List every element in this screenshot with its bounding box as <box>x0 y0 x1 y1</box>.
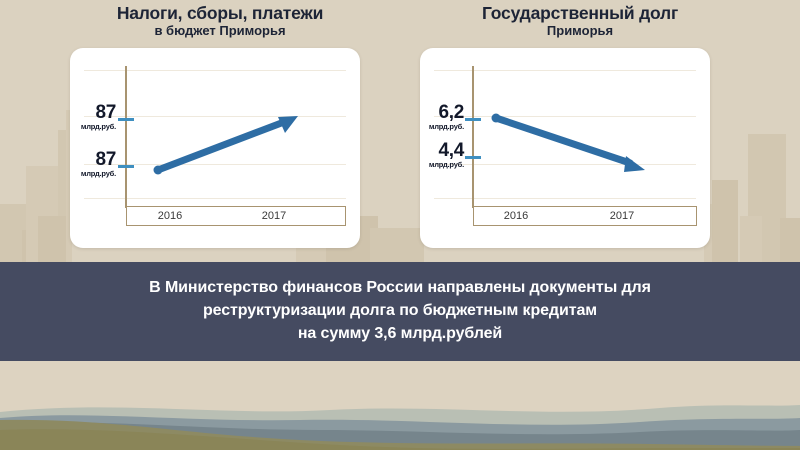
x-axis-label-2017: 2017 <box>584 210 660 222</box>
banner-line-3: на сумму 3,6 млрд.рублей <box>298 323 502 346</box>
value-tick <box>118 165 134 168</box>
gridline <box>84 198 346 199</box>
gridline <box>84 70 346 71</box>
value-number: 4,4 <box>420 142 464 160</box>
value-tick <box>465 156 481 159</box>
chart-card-debt: 6,2 млрд.руб. 4,4 млрд.руб. 2016 2017 <box>420 48 710 248</box>
panel-title-sub: Приморья <box>420 24 740 39</box>
panel-title-sub: в бюджет Приморья <box>60 24 380 39</box>
skyline-building <box>370 228 424 262</box>
infographic-canvas: Налоги, сборы, платежи в бюджет Приморья… <box>0 0 800 450</box>
panel-title-main: Государственный долг <box>420 4 740 22</box>
value-label-2016: 87 млрд.руб. <box>70 151 116 178</box>
value-number: 87 <box>70 104 116 122</box>
value-tick <box>118 118 134 121</box>
value-unit: млрд.руб. <box>420 123 464 131</box>
message-banner: В Министерство финансов России направлен… <box>0 262 800 361</box>
x-axis-label-2016: 2016 <box>132 210 208 222</box>
landscape-hills <box>0 360 800 450</box>
value-label-2017: 87 млрд.руб. <box>70 104 116 131</box>
trend-arrow-down <box>490 110 660 180</box>
x-axis-label-2016: 2016 <box>478 210 554 222</box>
value-number: 6,2 <box>420 104 464 122</box>
message-banner-text: В Министерство финансов России направлен… <box>0 262 800 361</box>
chart-taxes: 87 млрд.руб. 87 млрд.руб. 2016 2017 <box>70 48 360 248</box>
chart-debt: 6,2 млрд.руб. 4,4 млрд.руб. 2016 2017 <box>420 48 710 248</box>
value-tick <box>465 118 481 121</box>
skyline-building <box>38 216 66 262</box>
banner-line-2: реструктуризации долга по бюджетным кред… <box>203 300 597 323</box>
value-label-2016: 6,2 млрд.руб. <box>420 104 464 131</box>
skyline-building <box>712 180 738 262</box>
value-unit: млрд.руб. <box>70 123 116 131</box>
panel-title-debt: Государственный долг Приморья <box>420 4 740 39</box>
skyline-building <box>740 216 762 262</box>
x-axis-label-2017: 2017 <box>236 210 312 222</box>
y-axis-line <box>472 66 474 208</box>
panel-title-main: Налоги, сборы, платежи <box>60 4 380 22</box>
y-axis-line <box>125 66 127 208</box>
value-label-2017: 4,4 млрд.руб. <box>420 142 464 169</box>
banner-line-1: В Министерство финансов России направлен… <box>149 277 651 300</box>
skyline-building <box>780 218 800 262</box>
value-unit: млрд.руб. <box>70 170 116 178</box>
value-unit: млрд.руб. <box>420 161 464 169</box>
value-number: 87 <box>70 151 116 169</box>
panel-title-taxes: Налоги, сборы, платежи в бюджет Приморья <box>60 4 380 39</box>
chart-card-taxes: 87 млрд.руб. 87 млрд.руб. 2016 2017 <box>70 48 360 248</box>
trend-arrow-up <box>152 110 312 180</box>
